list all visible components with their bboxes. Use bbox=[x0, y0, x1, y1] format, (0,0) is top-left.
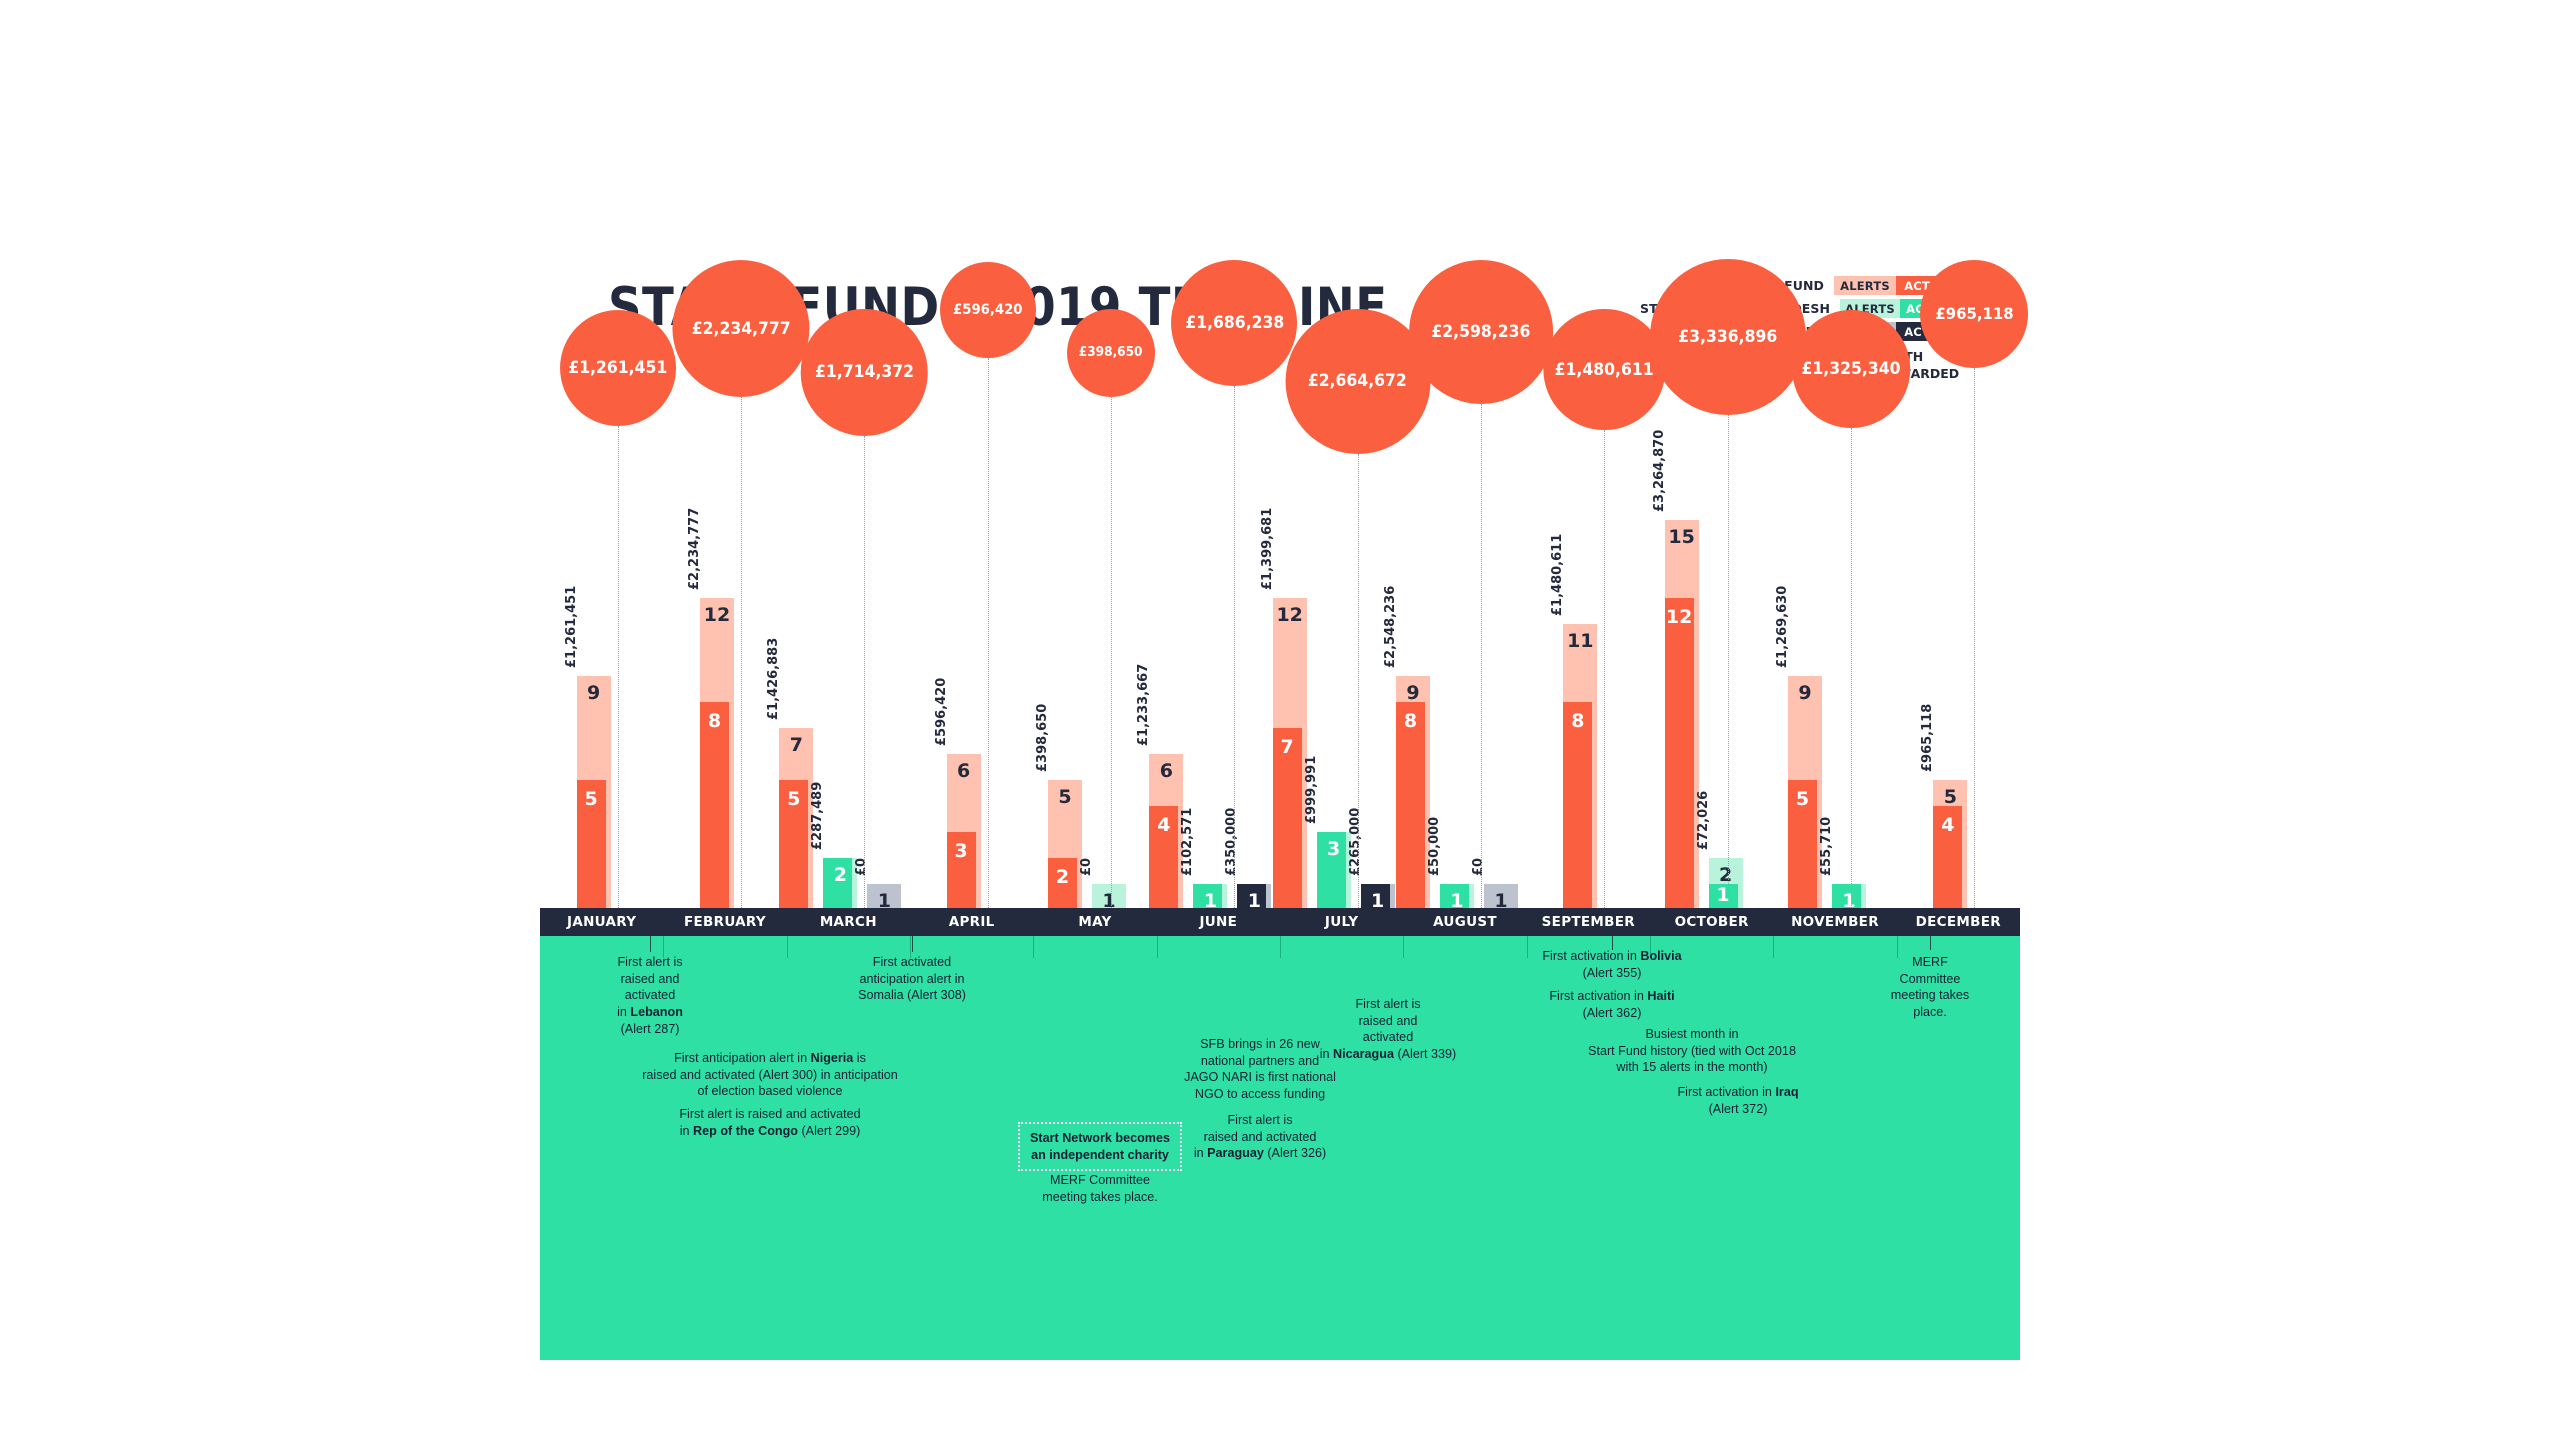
total-amount-bubble-value: £398,650 bbox=[1079, 345, 1143, 360]
bar-start_fund: 127 bbox=[1273, 598, 1307, 910]
month-column-september: £1,480,611118£1,480,611 bbox=[1527, 340, 1650, 910]
bar-bangladesh: 1 bbox=[1193, 884, 1227, 910]
month-label-november[interactable]: NOVEMBER bbox=[1773, 908, 1896, 936]
bubble-stem-line bbox=[1111, 397, 1112, 910]
bar-amount-label: £102,571 bbox=[1180, 808, 1195, 876]
bar-alerts-count: 11 bbox=[1563, 630, 1597, 652]
bar-activations-count: 7 bbox=[1273, 736, 1302, 758]
total-amount-bubble: £1,325,340 bbox=[1792, 310, 1910, 428]
total-amount-bubble-value: £1,325,340 bbox=[1802, 359, 1901, 379]
bar-merf: 1 bbox=[1361, 884, 1395, 910]
total-amount-bubble-value: £2,664,672 bbox=[1308, 371, 1407, 391]
bar-activations-count: 8 bbox=[700, 710, 729, 732]
month-column-may: £398,65052£01£398,650 bbox=[1033, 340, 1156, 910]
bar-alerts-count: 15 bbox=[1665, 526, 1699, 548]
bar-alerts-count: 12 bbox=[700, 604, 734, 626]
bubble-stem-line bbox=[1481, 404, 1482, 910]
note-charter: Start Network becomes an independent cha… bbox=[1018, 1122, 1182, 1171]
bar-amount-label: £350,000 bbox=[1224, 808, 1239, 876]
bar-alerts-count: 2 bbox=[823, 864, 857, 886]
bar-alerts-count: 9 bbox=[577, 682, 611, 704]
month-label-april[interactable]: APRIL bbox=[910, 908, 1033, 936]
total-amount-bubble: £596,420 bbox=[940, 262, 1036, 358]
month-divider bbox=[787, 936, 788, 958]
bar-activations-count: 1 bbox=[1709, 884, 1738, 906]
month-label-september[interactable]: SEPTEMBER bbox=[1527, 908, 1650, 936]
note-sfb: SFB brings in 26 new national partners a… bbox=[1184, 1036, 1336, 1103]
bar-activations-count: 5 bbox=[779, 788, 808, 810]
bar-alerts-count: 12 bbox=[1273, 604, 1307, 626]
infographic-root: START FUNDS 2019 TIMELINE START FUNDALER… bbox=[0, 0, 2560, 1440]
total-amount-bubble: £1,686,238 bbox=[1171, 260, 1297, 386]
note-haiti: First activation in Haiti (Alert 362) bbox=[1549, 988, 1674, 1021]
bar-amount-label: £265,000 bbox=[1348, 808, 1363, 876]
bar-activations-segment bbox=[1396, 702, 1425, 910]
bar-amount-label: £0 bbox=[1079, 858, 1094, 876]
bar-amount-label: £999,991 bbox=[1304, 756, 1319, 824]
bubble-stem-line bbox=[1974, 368, 1975, 910]
note-nigeria: First anticipation alert in Nigeria is r… bbox=[642, 1050, 898, 1100]
month-divider bbox=[1403, 936, 1404, 958]
bar-amount-label: £1,269,630 bbox=[1775, 586, 1790, 668]
bar-amount-label: £965,118 bbox=[1920, 704, 1935, 772]
bar-alerts-count: 3 bbox=[1317, 838, 1351, 860]
month-label-august[interactable]: AUGUST bbox=[1403, 908, 1526, 936]
note-iraq: First activation in Iraq (Alert 372) bbox=[1677, 1084, 1798, 1117]
note-bolivia: First activation in Bolivia (Alert 355) bbox=[1542, 948, 1681, 981]
bubble-stem-line bbox=[1604, 430, 1605, 910]
bar-activations-segment bbox=[1665, 598, 1694, 910]
month-label-february[interactable]: FEBRUARY bbox=[663, 908, 786, 936]
bar-activations-count: 3 bbox=[947, 840, 976, 862]
total-amount-bubble: £965,118 bbox=[1920, 260, 2028, 368]
total-amount-bubble-value: £1,261,451 bbox=[568, 358, 667, 378]
month-label-march[interactable]: MARCH bbox=[787, 908, 910, 936]
bar-activations-count: 5 bbox=[577, 788, 606, 810]
bar-start_fund: 1512 bbox=[1665, 520, 1699, 910]
note-congo: First alert is raised and activated in R… bbox=[679, 1106, 860, 1139]
note-lebanon: First alert is raised and activated in L… bbox=[617, 954, 683, 1038]
bar-bangladesh: 21 bbox=[1709, 858, 1743, 910]
bar-activations-count: 2 bbox=[1048, 866, 1077, 888]
bar-activations-segment bbox=[1563, 702, 1592, 910]
bar-start_fund: 75 bbox=[779, 728, 813, 910]
chart-plot-area: £1,261,45195£1,261,451£2,234,777128£2,23… bbox=[540, 340, 2020, 910]
note-busiest: Busiest month in Start Fund history (tie… bbox=[1588, 1026, 1796, 1076]
bar-bangladesh: 1 bbox=[1832, 884, 1866, 910]
bar-amount-label: £1,233,667 bbox=[1136, 664, 1151, 746]
month-label-january[interactable]: JANUARY bbox=[540, 908, 663, 936]
note-nicaragua: First alert is raised and activated in N… bbox=[1320, 996, 1457, 1063]
bar-merf: 1 bbox=[867, 884, 901, 910]
bar-activations-segment bbox=[700, 702, 729, 910]
bar-alerts-count: 5 bbox=[1933, 786, 1967, 808]
bar-activations-count: 12 bbox=[1665, 606, 1694, 628]
bar-amount-label: £1,261,451 bbox=[564, 586, 579, 668]
bubble-stem-line bbox=[1728, 415, 1729, 910]
bubble-stem-line bbox=[741, 397, 742, 910]
month-divider bbox=[1773, 936, 1774, 958]
month-label-june[interactable]: JUNE bbox=[1157, 908, 1280, 936]
month-column-november: £1,269,63095£55,7101£1,325,340 bbox=[1773, 340, 1896, 910]
bar-alerts-count: 6 bbox=[1149, 760, 1183, 782]
bubble-stem-line bbox=[1234, 386, 1235, 910]
total-amount-bubble-value: £1,686,238 bbox=[1185, 313, 1284, 333]
month-divider bbox=[1527, 936, 1528, 958]
bubble-stem-line bbox=[1358, 454, 1359, 910]
total-amount-bubble: £398,650 bbox=[1067, 309, 1155, 397]
month-column-august: £2,548,23698£50,0001£01£2,598,236 bbox=[1403, 340, 1526, 910]
bar-alerts-count: 7 bbox=[779, 734, 813, 756]
month-column-march: £1,426,88375£287,4892£01£1,714,372 bbox=[787, 340, 910, 910]
bar-amount-label: £3,264,870 bbox=[1652, 430, 1667, 512]
month-column-april: £596,42063£596,420 bbox=[910, 340, 1033, 910]
bubble-stem-line bbox=[864, 436, 865, 910]
bar-activations-count: 4 bbox=[1933, 814, 1962, 836]
note-leader-line bbox=[912, 936, 913, 952]
bar-bangladesh: 1 bbox=[1440, 884, 1474, 910]
month-column-december: £965,11854£965,118 bbox=[1897, 340, 2020, 910]
bar-start_fund: 128 bbox=[700, 598, 734, 910]
bar-activations-count: 4 bbox=[1149, 814, 1178, 836]
total-amount-bubble-value: £596,420 bbox=[953, 302, 1022, 318]
month-label-october[interactable]: OCTOBER bbox=[1650, 908, 1773, 936]
bar-amount-label: £1,426,883 bbox=[766, 638, 781, 720]
note-merf-apr: MERF Committee meeting takes place. bbox=[1042, 1172, 1158, 1205]
bar-start_fund: 52 bbox=[1048, 780, 1082, 910]
bar-amount-label: £0 bbox=[1471, 858, 1486, 876]
notes-panel: First alert is raised and activated in L… bbox=[540, 936, 2020, 1360]
note-paraguay: First alert is raised and activated in P… bbox=[1194, 1112, 1326, 1162]
month-divider bbox=[1033, 936, 1034, 958]
bar-start_fund: 98 bbox=[1396, 676, 1430, 910]
bar-amount-label: £2,548,236 bbox=[1383, 586, 1398, 668]
total-amount-bubble-value: £2,598,236 bbox=[1432, 322, 1531, 342]
bar-merf: 1 bbox=[1484, 884, 1518, 910]
bar-amount-label: £596,420 bbox=[934, 678, 949, 746]
note-leader-line bbox=[1930, 936, 1931, 950]
bar-amount-label: £2,234,777 bbox=[687, 508, 702, 590]
total-amount-bubble: £1,261,451 bbox=[560, 310, 676, 426]
bar-amount-label: £0 bbox=[854, 858, 869, 876]
total-amount-bubble-value: £2,234,777 bbox=[692, 319, 791, 339]
month-column-february: £2,234,777128£2,234,777 bbox=[663, 340, 786, 910]
legend-alerts-chip: ALERTS bbox=[1834, 276, 1896, 295]
bar-start_fund: 118 bbox=[1563, 624, 1597, 910]
bar-alerts-count: 2 bbox=[1709, 864, 1743, 886]
bar-amount-label: £398,650 bbox=[1035, 704, 1050, 772]
bar-start_fund: 95 bbox=[1788, 676, 1822, 910]
bar-amount-label: £72,026 bbox=[1696, 791, 1711, 850]
month-column-october: £3,264,8701512£72,02621£3,336,896 bbox=[1650, 340, 1773, 910]
bar-activations-count: 8 bbox=[1396, 710, 1425, 732]
bar-start_fund: 64 bbox=[1149, 754, 1183, 910]
bar-amount-label: £50,000 bbox=[1427, 817, 1442, 876]
bar-amount-label: £1,399,681 bbox=[1260, 508, 1275, 590]
bubble-stem-line bbox=[988, 358, 989, 910]
total-amount-bubble: £1,480,611 bbox=[1544, 309, 1665, 430]
month-column-january: £1,261,45195£1,261,451 bbox=[540, 340, 663, 910]
month-label-july[interactable]: JULY bbox=[1280, 908, 1403, 936]
month-axis-bar: JANUARYFEBRUARYMARCHAPRILMAYJUNEJULYAUGU… bbox=[540, 908, 2020, 936]
month-divider bbox=[1280, 936, 1281, 958]
bar-bangladesh: 1 bbox=[1092, 884, 1126, 910]
month-divider bbox=[1157, 936, 1158, 958]
bar-alerts-count: 9 bbox=[1788, 682, 1822, 704]
bar-activations-count: 5 bbox=[1788, 788, 1817, 810]
bar-start_fund: 95 bbox=[577, 676, 611, 910]
bar-merf: 1 bbox=[1237, 884, 1271, 910]
total-amount-bubble-value: £965,118 bbox=[1935, 304, 2013, 323]
month-label-december[interactable]: DECEMBER bbox=[1897, 908, 2020, 936]
bar-bangladesh: 2 bbox=[823, 858, 857, 910]
bar-activations-count: 8 bbox=[1563, 710, 1592, 732]
bar-alerts-count: 6 bbox=[947, 760, 981, 782]
bar-amount-label: £287,489 bbox=[810, 782, 825, 850]
total-amount-bubble: £1,714,372 bbox=[801, 309, 928, 436]
bubble-stem-line bbox=[1851, 428, 1852, 910]
bar-amount-label: £55,710 bbox=[1819, 817, 1834, 876]
month-column-june: £1,233,66764£102,5711£350,0001£1,686,238 bbox=[1157, 340, 1280, 910]
total-amount-bubble-value: £3,336,896 bbox=[1678, 327, 1777, 347]
total-amount-bubble-value: £1,480,611 bbox=[1555, 360, 1654, 380]
note-leader-line bbox=[650, 936, 651, 952]
bar-amount-label: £1,480,611 bbox=[1550, 534, 1565, 616]
note-merf-dec: MERF Committee meeting takes place. bbox=[1885, 954, 1975, 1021]
total-amount-bubble-value: £1,714,372 bbox=[815, 362, 914, 382]
month-label-may[interactable]: MAY bbox=[1033, 908, 1156, 936]
bar-alerts-count: 9 bbox=[1396, 682, 1430, 704]
bubble-stem-line bbox=[618, 426, 619, 910]
bar-start_fund: 54 bbox=[1933, 780, 1967, 910]
bar-alerts-count: 5 bbox=[1048, 786, 1082, 808]
bar-bangladesh: 3 bbox=[1317, 832, 1351, 910]
bar-start_fund: 63 bbox=[947, 754, 981, 910]
note-somalia: First activated anticipation alert in So… bbox=[858, 954, 966, 1004]
